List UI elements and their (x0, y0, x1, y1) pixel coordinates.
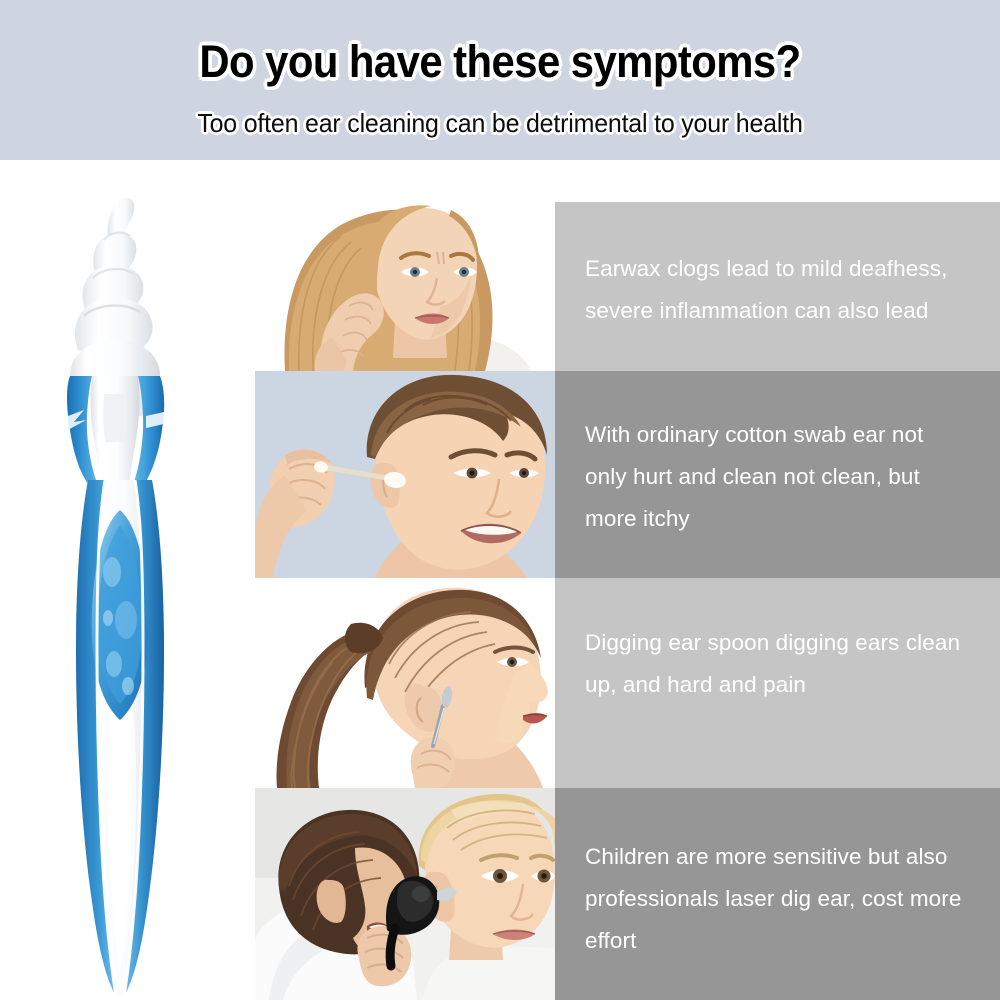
symptom-text-panel: Earwax clogs lead to mild deafhess, seve… (555, 202, 1000, 371)
page-subtitle: Too often ear cleaning can be detrimenta… (20, 108, 980, 139)
spiral-tip (75, 198, 153, 360)
symptom-rows: Earwax clogs lead to mild deafhess, seve… (255, 160, 1000, 1000)
symptom-row: Earwax clogs lead to mild deafhess, seve… (255, 202, 1000, 371)
doctor-examining-child-ear-photo (255, 788, 555, 1000)
symptom-text-panel: Children are more sensitive but also pro… (555, 788, 1000, 1000)
symptom-row: With ordinary cotton swab ear not only h… (255, 371, 1000, 578)
symptom-text: Earwax clogs lead to mild deafhess, seve… (585, 248, 970, 332)
page-title: Do you have these symptoms? (35, 36, 965, 88)
woman-holding-painful-ear-photo (255, 202, 555, 371)
product-image-column (0, 160, 255, 1000)
symptom-text-panel: With ordinary cotton swab ear not only h… (555, 371, 1000, 578)
header-banner: Do you have these symptoms? Too often ea… (0, 0, 1000, 160)
symptom-text: Children are more sensitive but also pro… (585, 836, 970, 962)
symptom-text-panel: Digging ear spoon digging ears clean up,… (555, 578, 1000, 788)
symptom-text: Digging ear spoon digging ears clean up,… (585, 622, 970, 706)
symptom-row: Digging ear spoon digging ears clean up,… (255, 578, 1000, 788)
symptom-row: Children are more sensitive but also pro… (255, 788, 1000, 1000)
woman-using-metal-ear-spoon-photo (255, 578, 555, 788)
spiral-ear-cleaner-illustration (30, 180, 220, 1000)
tool-handle (76, 480, 164, 998)
man-using-cotton-swab-photo (255, 371, 555, 578)
product-infographic: Do you have these symptoms? Too often ea… (0, 0, 1000, 1000)
symptom-text: With ordinary cotton swab ear not only h… (585, 414, 970, 540)
tool-shaft (91, 376, 140, 480)
